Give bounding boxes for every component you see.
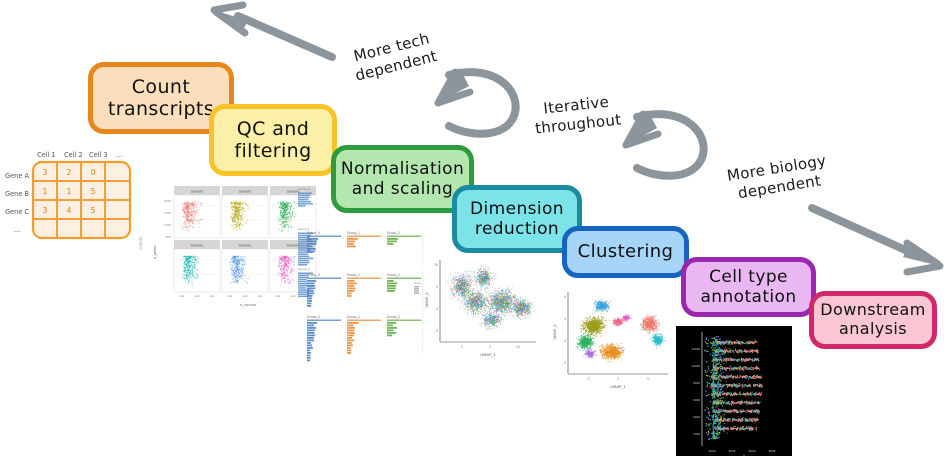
matrix-cell: 5 xyxy=(91,187,96,196)
marker-panel: Group_0 xyxy=(307,231,341,252)
svg-text:1e4: 1e4 xyxy=(228,294,233,298)
svg-text:Group_2: Group_2 xyxy=(387,231,400,235)
matrix-row-header: Gene C xyxy=(5,208,29,216)
matrix-cell: 3 xyxy=(43,206,48,215)
arrow-iterative-loop-2-icon xyxy=(626,111,704,176)
svg-text:1e4: 1e4 xyxy=(180,294,185,298)
step-box-clustering[interactable]: Clustering xyxy=(562,226,689,278)
marker-panel: Group_1 xyxy=(347,273,381,297)
matrix-col-header: Cell 1 xyxy=(37,151,56,159)
step-label: Downstream analysis xyxy=(820,301,925,339)
step-label: Cell type annotation xyxy=(700,267,796,307)
spatial-background xyxy=(676,326,792,456)
matrix-cell: 4 xyxy=(67,206,72,215)
umap-clusters-figure: -505630-3UMAP_1UMAP_2 xyxy=(546,282,674,396)
matrix-col-header: Cell 2 xyxy=(64,151,83,159)
svg-text:1e4: 1e4 xyxy=(243,294,248,298)
svg-text:Group_2: Group_2 xyxy=(387,315,400,319)
matrix-row-header: ... xyxy=(14,226,20,234)
count-matrix-figure: Cell 1 Cell 2 Cell 3 ... Gene A Gene B G… xyxy=(0,140,148,260)
svg-text:Group_0: Group_0 xyxy=(307,231,320,235)
umap-mixed-figure: 05101050-5UMAP_1UMAP_2 xyxy=(418,250,544,364)
svg-text:Group_0: Group_0 xyxy=(298,187,310,191)
arrow-more-biology-icon xyxy=(812,208,940,272)
matrix-col-header: Cell 3 xyxy=(89,151,108,159)
workflow-diagram: Cell 1 Cell 2 Cell 3 ... Gene A Gene B G… xyxy=(0,0,947,460)
svg-text:2000: 2000 xyxy=(164,199,171,203)
svg-text:Group_1: Group_1 xyxy=(347,315,360,319)
arrow-more-tech-icon xyxy=(214,5,332,57)
svg-text:Group_0: Group_0 xyxy=(307,273,320,277)
step-label: Normalisation and scaling xyxy=(341,159,464,199)
matrix-row-header: Gene B xyxy=(5,190,29,198)
qc-panel: Sample xyxy=(174,240,220,292)
svg-text:Sample: Sample xyxy=(191,243,204,247)
svg-text:1500: 1500 xyxy=(164,211,171,215)
step-box-cell-type-annotation[interactable]: Cell type annotation xyxy=(681,257,816,317)
matrix-cell: 0 xyxy=(91,168,96,177)
svg-text:Group_2: Group_2 xyxy=(387,273,400,277)
umap-clusters-xlabel: UMAP_1 xyxy=(610,384,626,389)
step-box-downstream-analysis[interactable]: Downstream analysis xyxy=(809,291,937,349)
matrix-cell: 3 xyxy=(43,168,48,177)
step-label: Dimension reduction xyxy=(470,199,564,239)
svg-text:1000: 1000 xyxy=(164,223,171,227)
svg-text:Group_1: Group_1 xyxy=(347,231,360,235)
svg-text:1e4: 1e4 xyxy=(276,294,281,298)
marker-panel: Group_1 xyxy=(347,231,381,247)
matrix-col-header: ... xyxy=(116,151,122,159)
marker-panel: Group_0 xyxy=(307,273,341,307)
step-label: Count transcripts xyxy=(108,76,214,121)
qc-panel: Sample xyxy=(174,186,220,238)
arrow-iterative-loop-1-icon xyxy=(438,69,516,134)
matrix-cell: 2 xyxy=(67,168,72,177)
marker-panel: Group_1 xyxy=(347,315,381,354)
svg-text:Sample: Sample xyxy=(239,243,252,247)
svg-text:Sample: Sample xyxy=(287,243,300,247)
svg-text:Sample: Sample xyxy=(239,189,252,193)
qc-panel: Sample xyxy=(222,186,268,238)
qc-panel: Sample xyxy=(222,240,268,292)
spatial-plot-figure: 1200010000800060004000200020004000600080… xyxy=(676,326,792,456)
qc-ylabel: n_genes xyxy=(153,245,157,259)
svg-text:1e4: 1e4 xyxy=(291,294,296,298)
svg-text:Group_0: Group_0 xyxy=(307,315,320,319)
step-label: QC and filtering xyxy=(234,118,311,163)
svg-text:500: 500 xyxy=(166,235,172,239)
svg-text:1e4: 1e4 xyxy=(210,294,215,298)
svg-text:1e4: 1e4 xyxy=(258,294,263,298)
umap-mixed-ylabel: UMAP_2 xyxy=(424,292,429,308)
step-box-qc-and-filtering[interactable]: QC and filtering xyxy=(209,104,337,176)
umap-mixed-xlabel: UMAP_1 xyxy=(480,352,496,357)
matrix-side-note: counts xyxy=(138,237,143,250)
qc-scatter-grid-figure: Sample1e41e41e4Sample1e41e41e4Sample1e41… xyxy=(148,178,320,310)
matrix-row-header: Gene A xyxy=(5,172,29,180)
svg-text:1e4: 1e4 xyxy=(195,294,200,298)
marker-gene-bars-figure: Group_0Group_1Group_2Group_0Group_1Group… xyxy=(302,226,428,352)
matrix-cell: 1 xyxy=(67,187,72,196)
matrix-cell: 5 xyxy=(91,206,96,215)
qc-xlabel: n_counts xyxy=(240,303,256,307)
svg-text:Sample: Sample xyxy=(191,189,204,193)
umap-clusters-ylabel: UMAP_2 xyxy=(552,324,557,340)
svg-text:Group_1: Group_1 xyxy=(347,273,360,277)
matrix-cell: 1 xyxy=(43,187,48,196)
step-label: Clustering xyxy=(578,241,674,262)
